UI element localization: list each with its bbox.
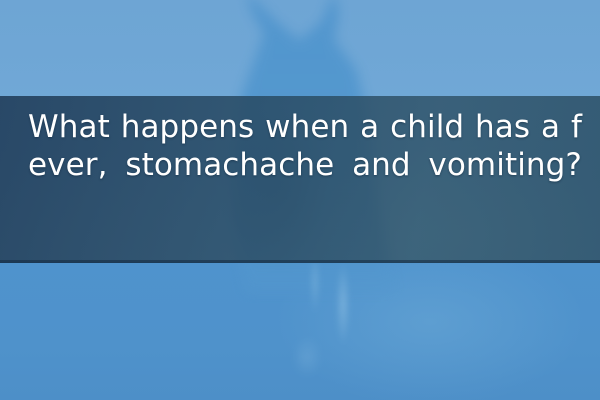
- caption-question-text: What happens when a child has a fever, s…: [0, 96, 600, 263]
- screenshot-canvas: What happens when a child has a fever, s…: [0, 0, 600, 400]
- horse-mane-highlight: [255, 262, 395, 392]
